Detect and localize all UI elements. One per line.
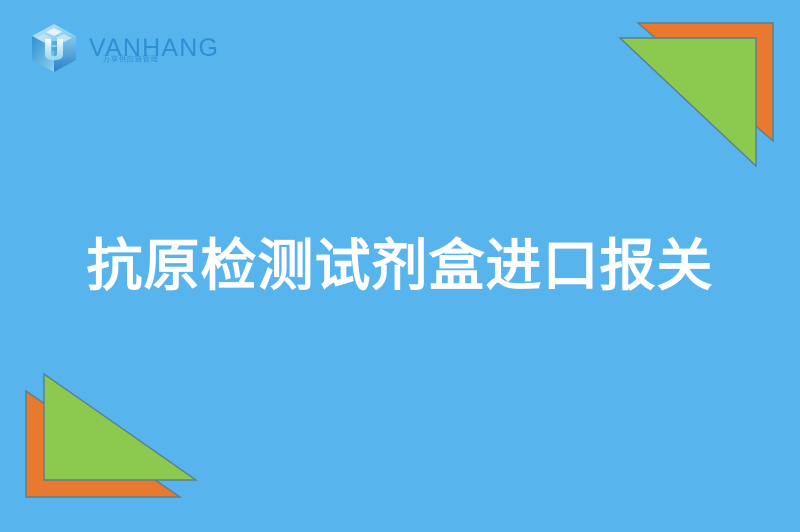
double-triangle-decoration-top-right (600, 0, 800, 180)
page-title: 抗原检测试剂盒进口报关 (0, 234, 800, 298)
brand-text-block: VANHANG 万享供应链管理 (89, 21, 219, 75)
triangle-icon-green (44, 374, 196, 480)
triangle-icon-orange (26, 391, 180, 497)
brand-wordmark: VANHANG (89, 21, 219, 75)
cube-logo-icon (27, 21, 81, 75)
brand-logo[interactable]: VANHANG 万享供应链管理 (27, 20, 219, 76)
triangle-icon-orange (638, 23, 773, 141)
promo-banner: VANHANG 万享供应链管理 抗原检测试剂盒进口报关 (0, 0, 800, 532)
brand-tagline: 万享供应链管理 (103, 54, 158, 64)
triangle-icon-green (620, 38, 756, 166)
double-triangle-decoration-bottom-left (0, 352, 200, 532)
